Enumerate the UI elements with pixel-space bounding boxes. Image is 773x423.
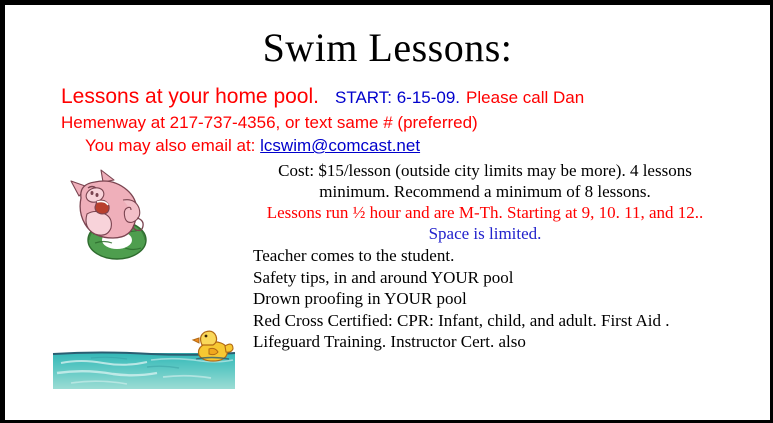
swim-lessons-flyer: Swim Lessons: Lessons at your home pool.…	[0, 0, 773, 423]
schedule-line: Lessons run ½ hour and are M-Th. Startin…	[205, 202, 765, 223]
page-title: Swim Lessons:	[5, 27, 770, 69]
email-contact-line: You may also email at: lcswim@comcast.ne…	[5, 134, 770, 157]
list-item: Drown proofing in YOUR pool	[253, 288, 765, 310]
list-item: Teacher comes to the student.	[253, 245, 765, 267]
pig-on-inner-tube-illustration	[61, 168, 155, 260]
list-item: Red Cross Certified: CPR: Infant, child,…	[253, 310, 765, 332]
headline-main-text: Lessons at your home pool.	[61, 85, 319, 108]
email-prefix-label: You may also email at:	[85, 136, 255, 155]
phone-contact-line: Hemenway at 217-737-4356, or text same #…	[5, 111, 770, 134]
list-item: Lifeguard Training. Instructor Cert. als…	[253, 331, 765, 353]
pig-illustration-svg	[61, 168, 155, 260]
cost-line-2: minimum. Recommend a minimum of 8 lesson…	[205, 181, 765, 202]
water-illustration-svg	[51, 327, 237, 389]
space-limited-line: Space is limited.	[205, 223, 765, 244]
flyer-canvas: Swim Lessons: Lessons at your home pool.…	[5, 5, 770, 420]
cost-line-1: Cost: $15/lesson (outside city limits ma…	[205, 160, 765, 181]
services-list: Teacher comes to the student. Safety tip…	[253, 245, 765, 353]
pool-water-with-rubber-duck-illustration	[51, 327, 237, 389]
call-contact-text: Please call Dan	[460, 88, 584, 107]
start-date-text: START: 6-15-09.	[319, 88, 460, 107]
headline-block: Lessons at your home pool.START: 6-15-09…	[5, 85, 770, 157]
list-item: Safety tips, in and around YOUR pool	[253, 267, 765, 289]
pig-icon	[71, 170, 143, 238]
cost-and-schedule-block: Cost: $15/lesson (outside city limits ma…	[205, 160, 765, 244]
email-link[interactable]: lcswim@comcast.net	[260, 136, 420, 155]
headline-line-1: Lessons at your home pool.START: 6-15-09…	[5, 85, 770, 111]
